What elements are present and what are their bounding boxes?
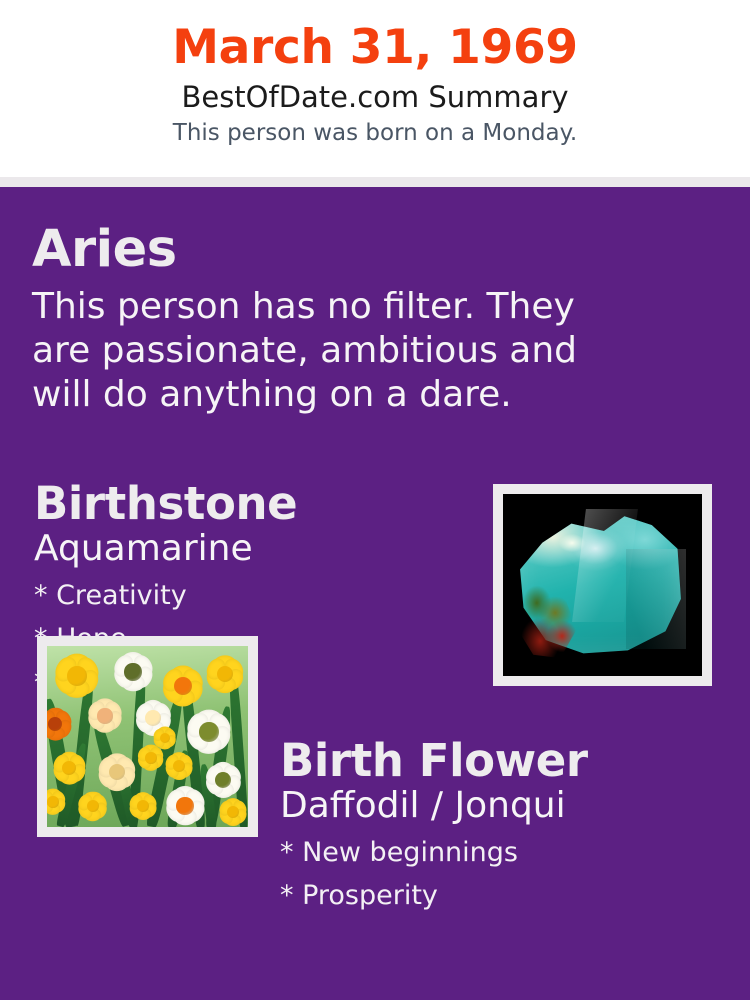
flower-center bbox=[176, 797, 193, 814]
header-divider bbox=[0, 177, 750, 187]
daffodil-blossom bbox=[75, 788, 111, 824]
birth-date-title: March 31, 1969 bbox=[0, 22, 750, 75]
daffodil-blossom bbox=[47, 704, 75, 744]
birth-day-note: This person was born on a Monday. bbox=[0, 119, 750, 149]
aquamarine-crystal-icon bbox=[503, 494, 702, 676]
daffodil-blossom bbox=[109, 648, 157, 696]
flower-center bbox=[199, 722, 218, 741]
list-item: * Prosperity bbox=[280, 874, 730, 918]
birth-flower-traits-list: * New beginnings * Prosperity bbox=[280, 831, 730, 918]
summary-header: March 31, 1969 BestOfDate.com Summary Th… bbox=[0, 0, 750, 177]
birth-flower-image-frame bbox=[37, 636, 258, 837]
daffodil-blossom bbox=[162, 749, 196, 783]
daffodil-flowers-icon bbox=[47, 646, 248, 827]
zodiac-description: This person has no filter. They are pass… bbox=[32, 285, 644, 417]
birth-flower-title: Birth Flower bbox=[280, 737, 730, 784]
flower-center bbox=[67, 666, 86, 685]
details-panel: Aries This person has no filter. They ar… bbox=[0, 187, 750, 1000]
flower-center bbox=[97, 708, 112, 723]
daffodil-blossom bbox=[49, 748, 89, 788]
flower-center bbox=[124, 663, 141, 680]
birthstone-title: Birthstone bbox=[34, 480, 474, 527]
flower-center bbox=[47, 796, 59, 808]
zodiac-section: Aries This person has no filter. They ar… bbox=[32, 222, 672, 417]
flower-center bbox=[215, 772, 231, 788]
daffodil-blossom bbox=[202, 651, 248, 697]
birth-flower-text-group: Birth Flower Daffodil / Jonqui * New beg… bbox=[280, 737, 730, 918]
daffodil-blossom bbox=[161, 782, 209, 827]
daffodil-blossom bbox=[126, 789, 160, 823]
site-summary-label: BestOfDate.com Summary bbox=[0, 79, 750, 117]
daffodil-blossom bbox=[216, 795, 248, 827]
zodiac-sign-title: Aries bbox=[32, 222, 672, 277]
birthstone-name: Aquamarine bbox=[34, 529, 474, 569]
flower-center bbox=[160, 733, 170, 743]
daffodil-blossom bbox=[84, 695, 126, 737]
daffodil-blossom bbox=[47, 786, 69, 818]
daffodil-blossom bbox=[151, 724, 179, 752]
list-item: * Creativity bbox=[34, 574, 474, 618]
birthstone-image-frame bbox=[493, 484, 712, 686]
flower-center bbox=[174, 677, 192, 695]
birth-flower-name: Daffodil / Jonqui bbox=[280, 786, 730, 826]
crystal-facet-right bbox=[626, 549, 686, 649]
crystal-highlight bbox=[559, 534, 585, 552]
flower-center bbox=[145, 752, 157, 764]
list-item: * New beginnings bbox=[280, 831, 730, 875]
